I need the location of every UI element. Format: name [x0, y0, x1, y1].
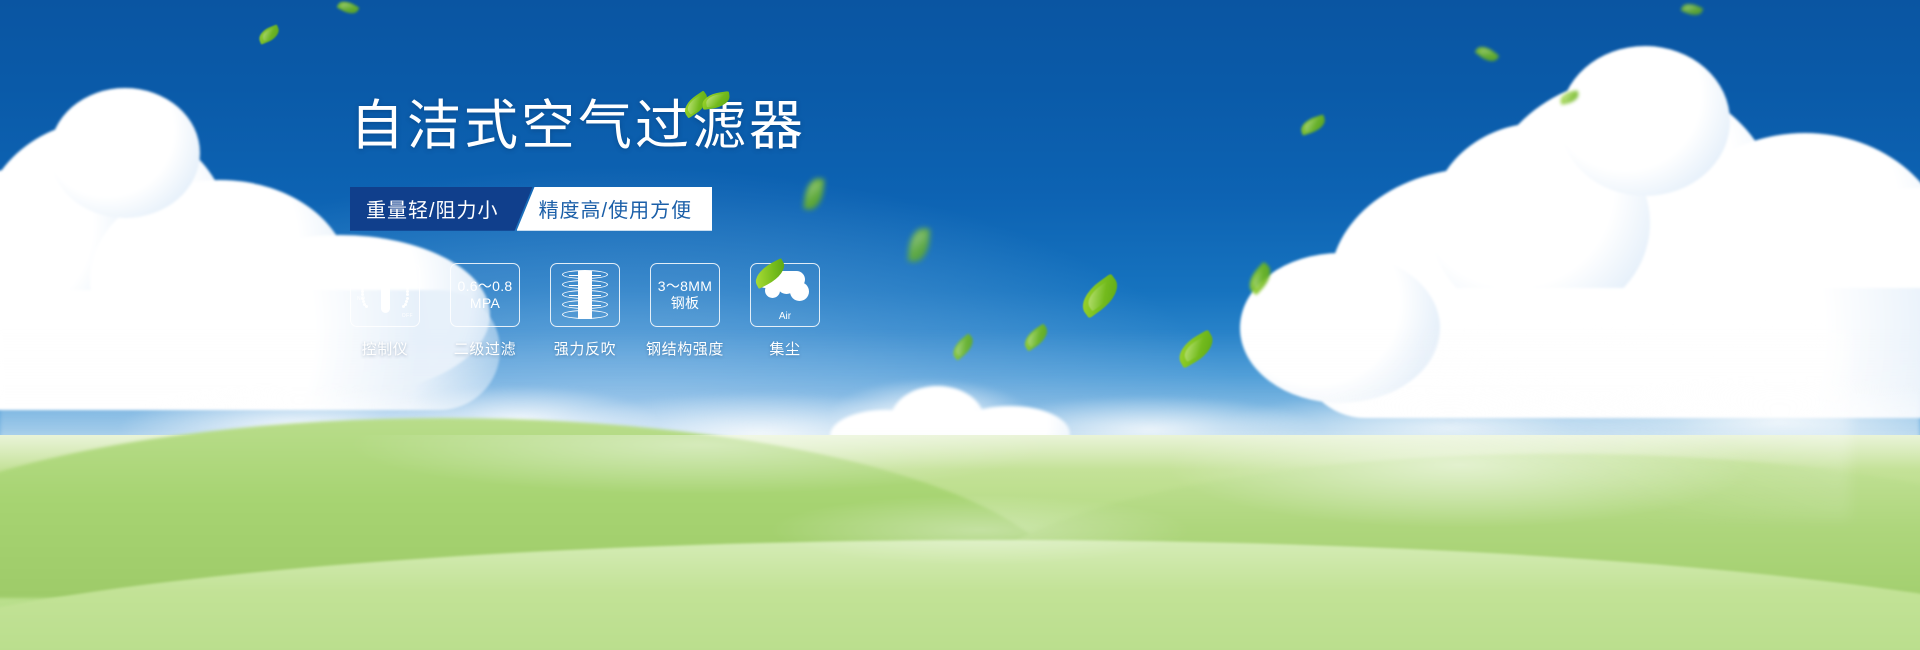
feature-item-backflush[interactable]: 强力反吹	[550, 263, 620, 359]
gauge-needle	[381, 279, 390, 313]
feature-icon-box: 3～8MM 钢板	[650, 263, 720, 327]
feature-item-steel-strength[interactable]: 3～8MM 钢板 钢结构强度	[650, 263, 720, 359]
air-label: Air	[757, 311, 813, 322]
stack-bar	[569, 295, 601, 297]
feature-icon-box: 0.6～0.8 MPA	[450, 263, 520, 327]
feature-list: NO OFF 控制仪 0.6～0.8 MPA 二级过滤	[350, 263, 1050, 359]
steel-thickness-text: 3～8MM	[658, 278, 712, 295]
tagline-left: 重量轻/阻力小	[350, 187, 533, 231]
stack-bar	[569, 305, 601, 307]
stack-bar	[569, 285, 601, 287]
cloud-air-icon: Air	[757, 271, 813, 319]
banner-content: 自洁式空气过滤器 重量轻/阻力小 精度高/使用方便 NO OFF	[350, 95, 1050, 359]
feature-label: 控制仪	[362, 338, 409, 359]
feature-label: 强力反吹	[554, 338, 616, 359]
tagline-group: 重量轻/阻力小 精度高/使用方便	[350, 187, 1050, 231]
feature-label: 集尘	[769, 338, 800, 359]
tagline-right: 精度高/使用方便	[517, 187, 713, 231]
feature-icon-box: Air	[750, 263, 820, 327]
filter-stack-icon	[562, 270, 608, 320]
feature-icon-box	[550, 263, 620, 327]
gauge-label-on: NO	[357, 296, 365, 302]
pressure-range-text: 0.6～0.8	[457, 278, 512, 295]
steel-plate-text: 钢板	[671, 295, 700, 312]
stack-bar	[569, 275, 601, 277]
feature-label: 二级过滤	[454, 338, 516, 359]
feature-item-dust-collection[interactable]: Air 集尘	[750, 263, 820, 359]
stack-ring	[562, 310, 608, 319]
feature-item-controller[interactable]: NO OFF 控制仪	[350, 263, 420, 359]
feature-label: 钢结构强度	[646, 338, 724, 359]
gauge-label-off: OFF	[402, 313, 413, 319]
feature-icon-box: NO OFF	[350, 263, 420, 327]
hero-banner: 自洁式空气过滤器 重量轻/阻力小 精度高/使用方便 NO OFF	[0, 0, 1920, 650]
grass-field	[0, 435, 1920, 650]
feature-item-two-stage-filter[interactable]: 0.6～0.8 MPA 二级过滤	[450, 263, 520, 359]
title-leaf-decoration-icon	[682, 87, 734, 121]
gauge-icon: NO OFF	[358, 270, 412, 320]
pressure-unit-text: MPA	[470, 295, 500, 312]
